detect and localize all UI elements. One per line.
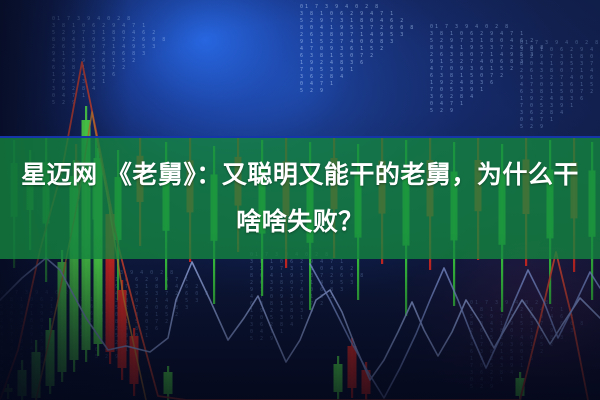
banner-title-line-2: 啥啥失败？ [236,198,364,245]
banner-title-line-1: 星迈网 《老舅》：又聪明又能干的老舅，为什么干 [21,151,579,198]
banner-image: 01 7 3 9 4 0 2 8 3 8 1 0 6 2 9 4 7 1 5 2… [0,0,600,400]
banner-title: 星迈网 《老舅》：又聪明又能干的老舅，为什么干 啥啥失败？ [0,141,600,254]
